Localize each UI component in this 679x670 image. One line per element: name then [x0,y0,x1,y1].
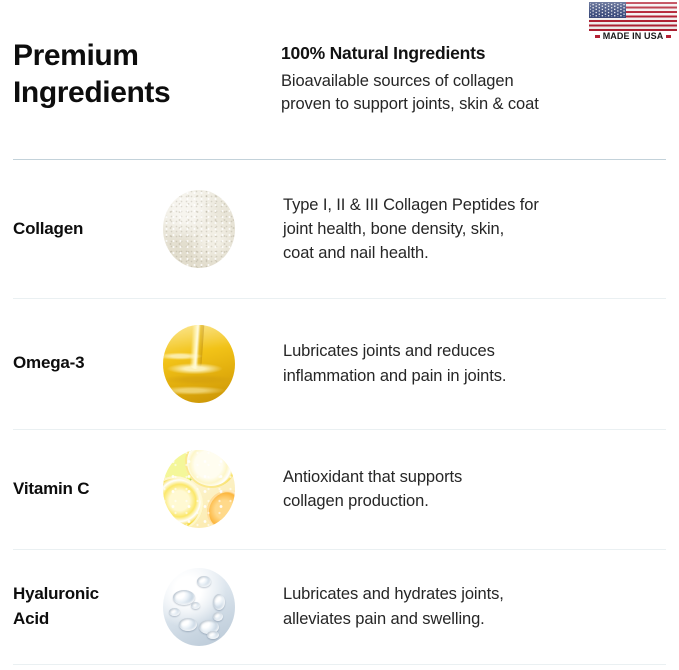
ingredient-row-vitamin-c: Vitamin C Antioxidant that supports coll… [0,429,679,549]
ingredient-row-hyaluronic-acid: Hyaluronic Acid Lubricates and hydrates … [0,549,679,664]
collagen-powder-image [163,190,235,268]
ingredient-description: Lubricates and hydrates joints, alleviat… [283,582,666,631]
ingredient-thumb-cell [163,568,283,646]
ingredient-thumb-cell [163,450,283,528]
water-droplet [213,594,225,610]
water-droplet [207,631,219,639]
premium-ingredients-infographic: MADE IN USA Premium Ingredients 100% Nat… [0,0,679,670]
water-droplet [179,618,197,631]
ingredient-name: Hyaluronic Acid [13,582,163,631]
dash-right-icon [666,35,671,38]
ingredient-thumb-cell [163,190,283,268]
omega3-oil-image [163,325,235,403]
ingredient-thumb-cell [163,325,283,403]
ingredient-list: Collagen Type I, II & III Collagen Pepti… [0,160,679,664]
water-droplet [191,602,200,609]
water-droplet [197,576,211,587]
ingredient-description: Type I, II & III Collagen Peptides for j… [283,193,666,266]
made-in-usa-badge: MADE IN USA [589,2,677,41]
vitamin-c-citrus-image [163,450,235,528]
hyaluronic-acid-water-image [163,568,235,646]
ingredient-name: Collagen [13,217,163,242]
citrus-bubbles [163,450,235,528]
ingredient-name: Omega-3 [13,351,163,376]
header-body-text: Bioavailable sources of collagen proven … [281,70,666,117]
ingredient-description: Antioxidant that supports collagen produ… [283,465,666,514]
flag-shading [589,2,677,31]
ingredient-name: Vitamin C [13,477,163,502]
header-subtitle: 100% Natural Ingredients [281,42,666,65]
water-droplet [169,608,180,616]
header-description-block: 100% Natural Ingredients Bioavailable so… [281,38,666,117]
water-droplet [213,612,223,621]
page-title: Premium Ingredients [13,38,281,112]
row-divider-bottom [13,664,666,665]
ingredient-row-omega3: Omega-3 Lubricates joints and reduces in… [0,298,679,429]
ingredient-description: Lubricates joints and reduces inflammati… [283,339,666,388]
usa-flag-icon [589,2,677,31]
ingredient-row-collagen: Collagen Type I, II & III Collagen Pepti… [0,160,679,298]
header: Premium Ingredients 100% Natural Ingredi… [13,38,666,117]
